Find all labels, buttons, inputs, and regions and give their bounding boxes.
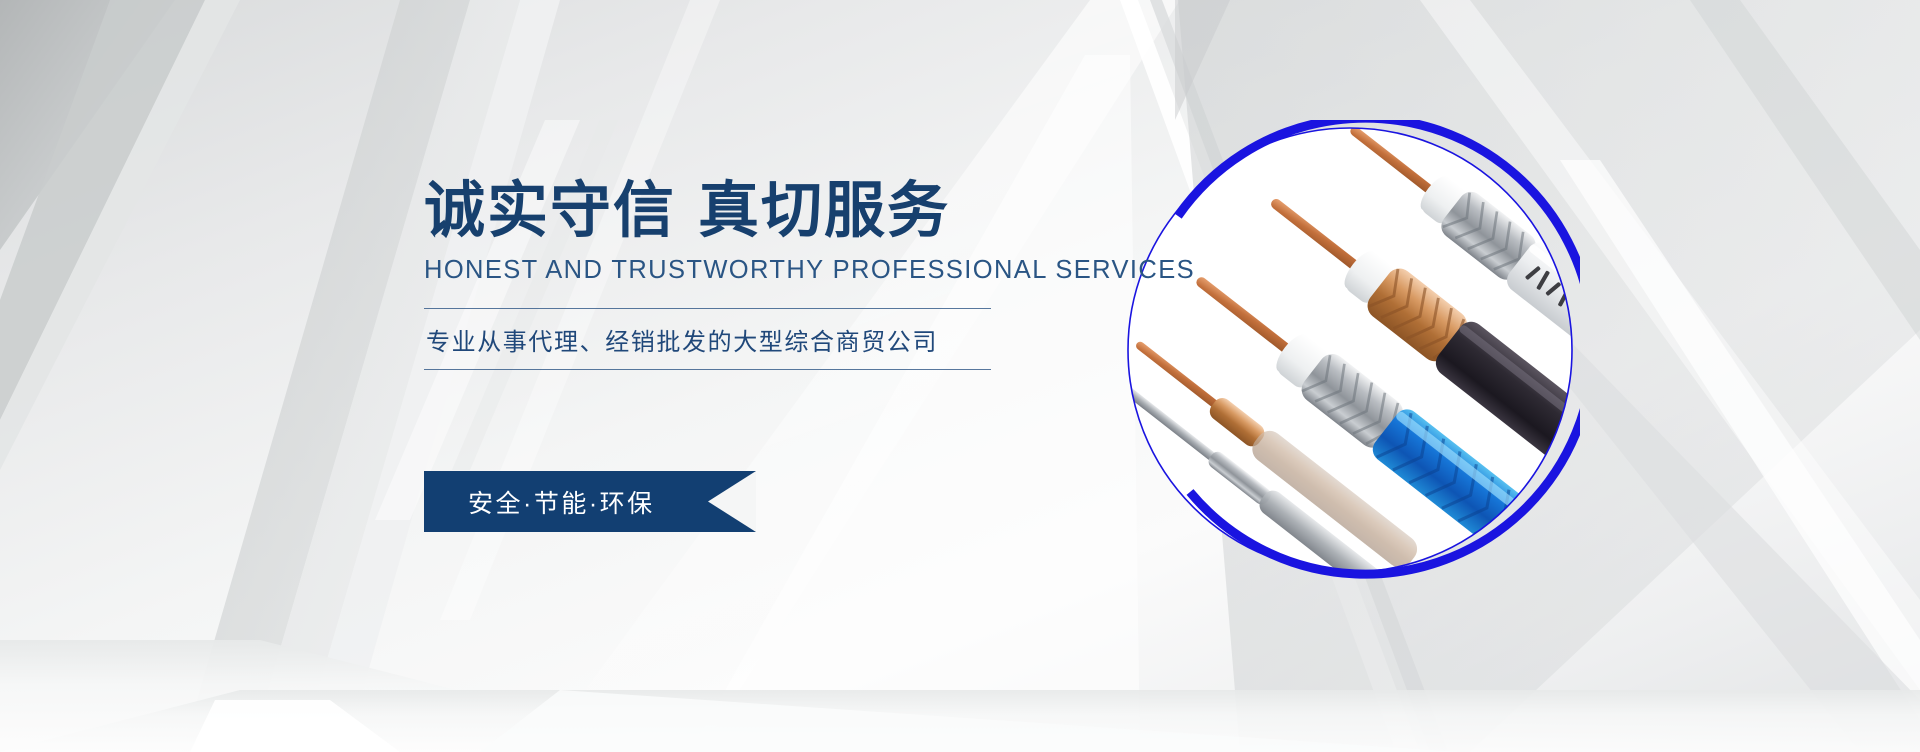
subtitle-chinese: 专业从事代理、经销批发的大型综合商贸公司: [424, 309, 991, 369]
product-medallion: [1120, 120, 1580, 580]
badge-label: 安全·节能·环保: [424, 484, 655, 520]
background-shapes: [0, 0, 1920, 752]
hero-banner: 诚实守信真切服务 HONEST AND TRUSTWORTHY PROFESSI…: [0, 0, 1920, 752]
subtitle-rule-group: 专业从事代理、经销批发的大型综合商贸公司: [424, 308, 991, 370]
medallion-rings: [1120, 120, 1580, 580]
copy-block: 诚实守信真切服务 HONEST AND TRUSTWORTHY PROFESSI…: [424, 178, 1044, 370]
divider-bottom: [424, 369, 991, 370]
page-title: 诚实守信真切服务: [424, 178, 1044, 243]
status-badge: 安全·节能·环保: [424, 471, 756, 532]
background-geometry: [0, 0, 1920, 752]
subtitle-english: HONEST AND TRUSTWORTHY PROFESSIONAL SERV…: [424, 256, 1044, 285]
headline-part-1: 诚实守信: [424, 176, 676, 244]
thick-blue-arc-icon: [1178, 120, 1580, 574]
headline-part-2: 真切服务: [698, 176, 950, 244]
divider-top: [424, 308, 991, 309]
